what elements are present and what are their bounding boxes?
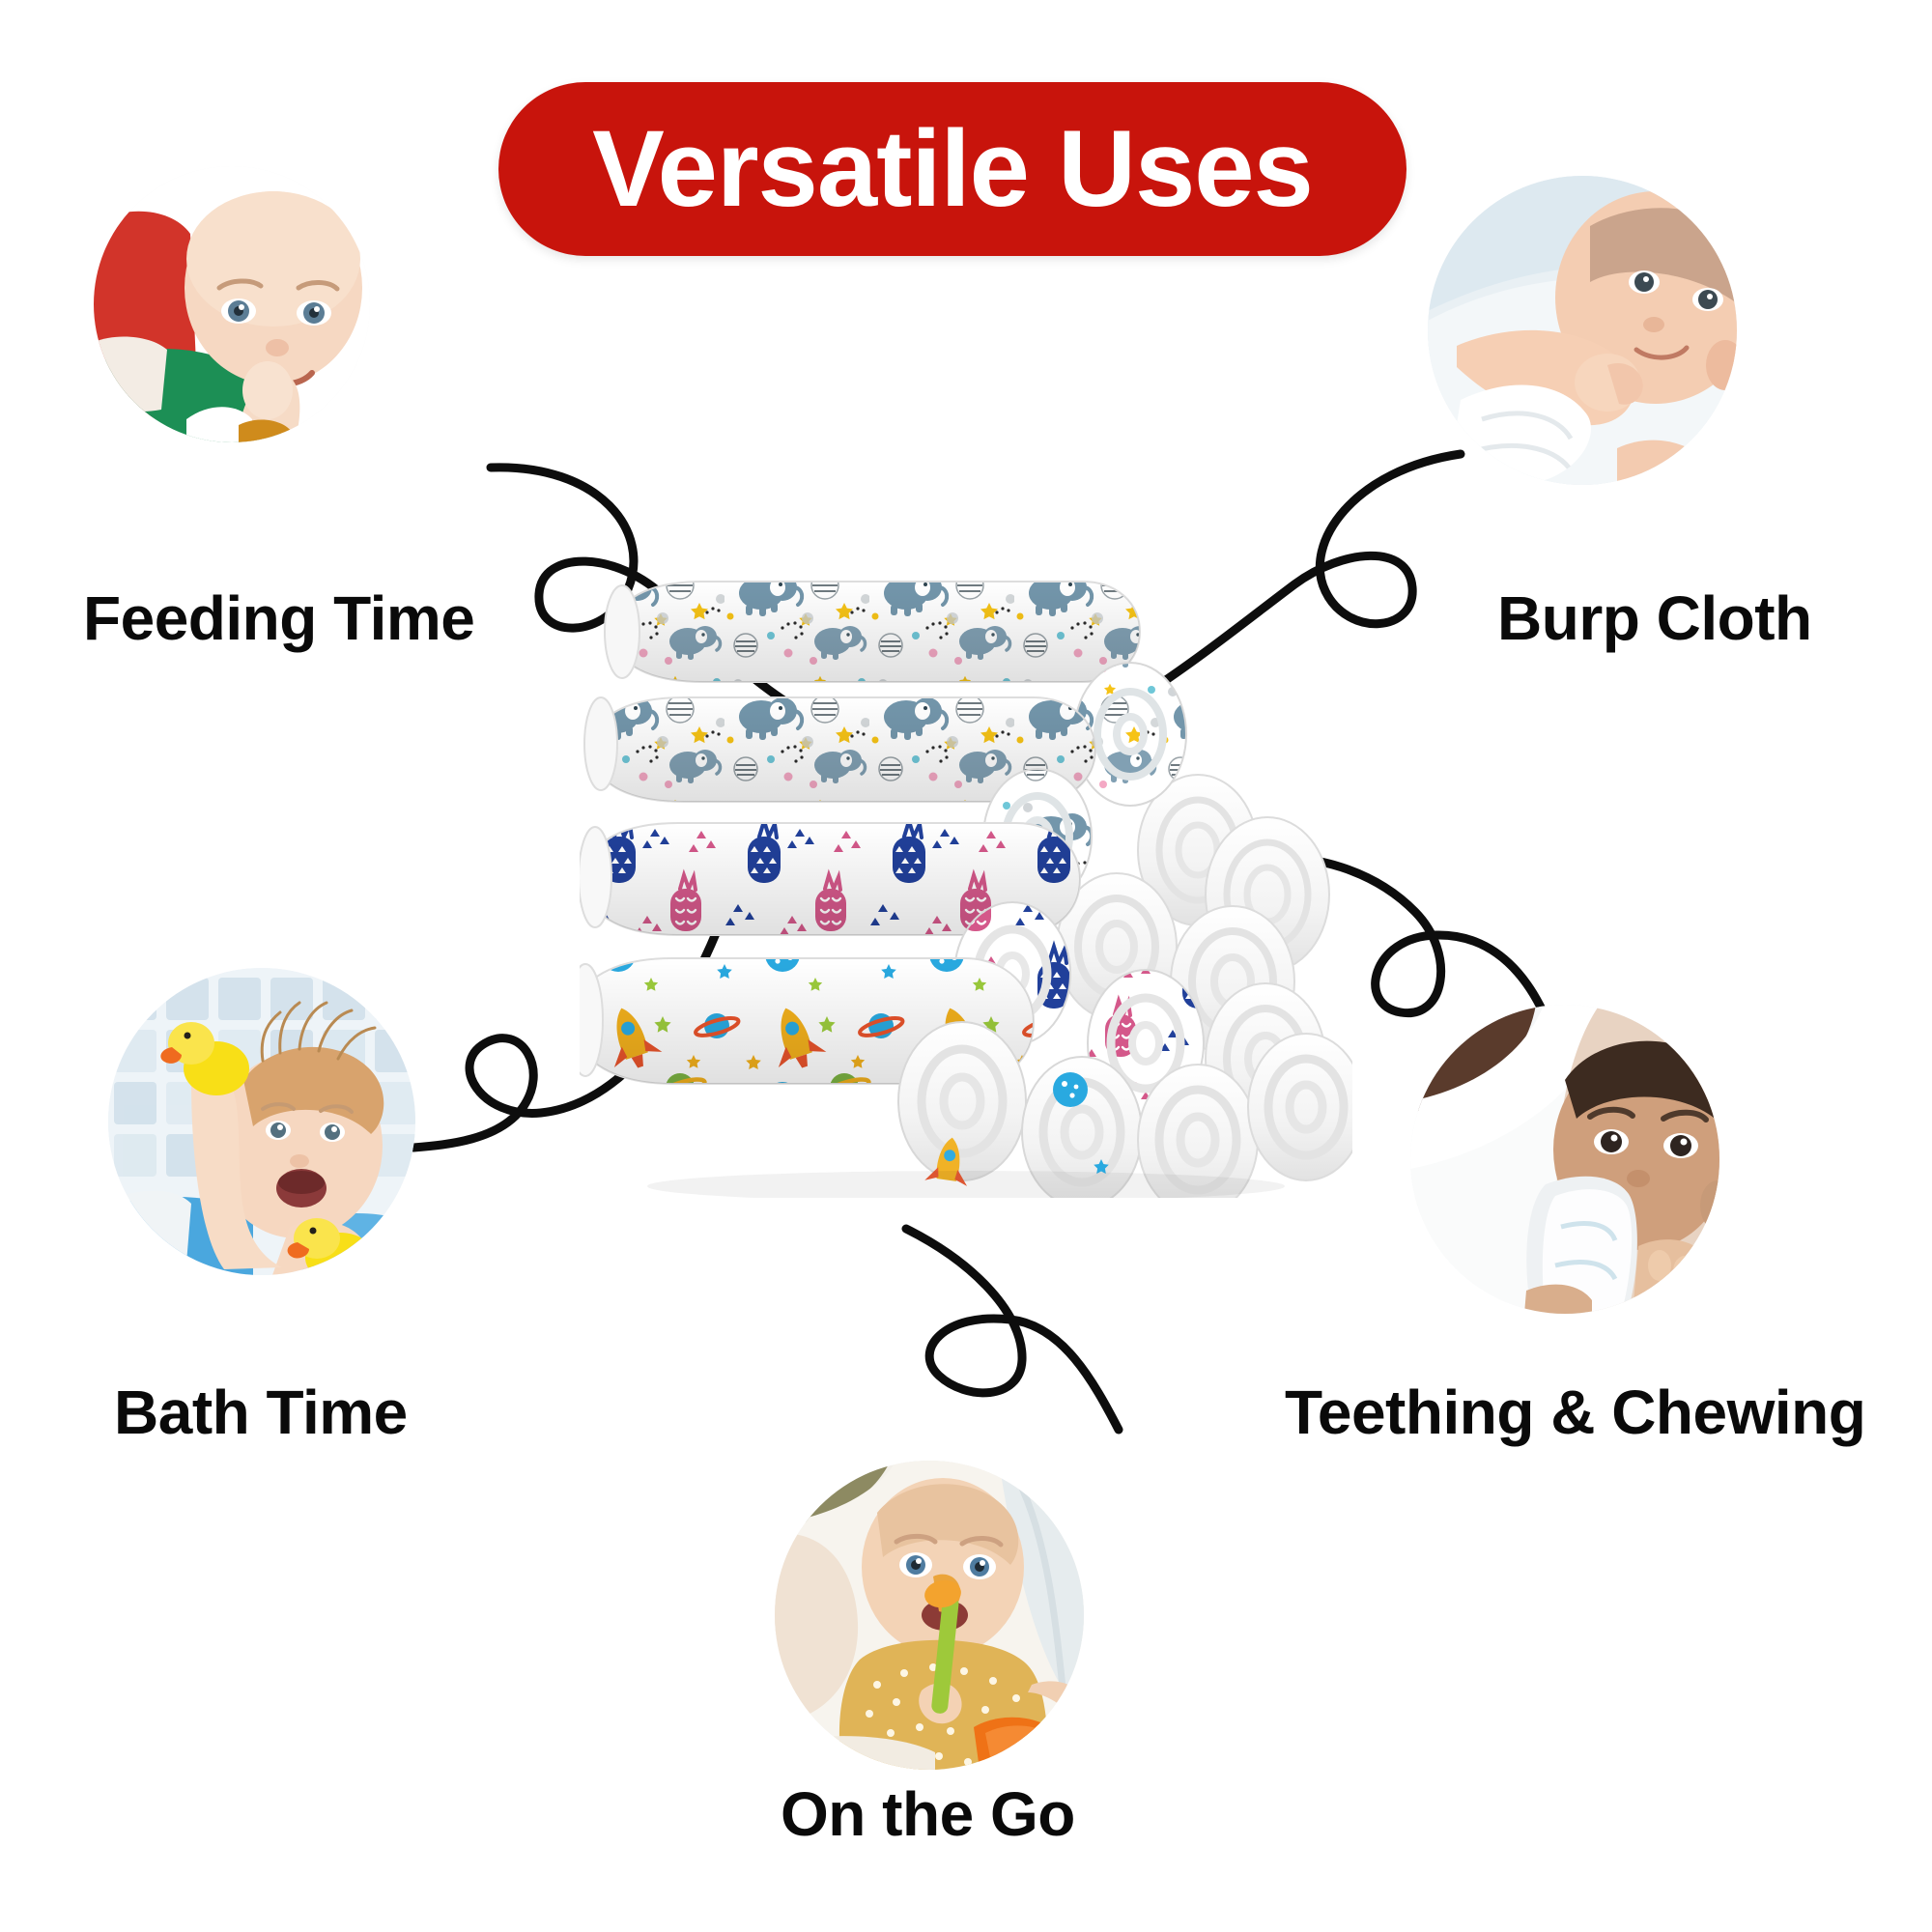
label-bath-time: Bath Time [114, 1381, 408, 1443]
connector-on-the-go [869, 1207, 1130, 1459]
label-teething-and-chewing: Teething & Chewing [1285, 1381, 1865, 1443]
bath-time-illustration [108, 968, 415, 1275]
photo-burp-cloth [1428, 176, 1737, 485]
label-burp-cloth: Burp Cloth [1497, 587, 1812, 649]
page-title: Versatile Uses [592, 115, 1313, 223]
infographic-canvas: Versatile Uses [0, 0, 1932, 1932]
burp-cloth-illustration [1428, 176, 1737, 485]
photo-teething-and-chewing [1410, 1005, 1719, 1314]
label-feeding-time: Feeding Time [83, 587, 474, 649]
photo-bath-time [108, 968, 415, 1275]
photo-on-the-go [775, 1461, 1084, 1770]
photo-feeding-time [94, 166, 370, 442]
title-banner: Versatile Uses [498, 82, 1406, 256]
product-washcloth-stack [580, 560, 1352, 1198]
teething-illustration [1410, 1005, 1719, 1314]
feeding-time-illustration [94, 166, 370, 442]
on-the-go-illustration [775, 1461, 1084, 1770]
washcloth-stack-illustration [580, 560, 1352, 1198]
washcloth-row-elephant-top [605, 582, 1140, 682]
label-on-the-go: On the Go [781, 1783, 1075, 1845]
